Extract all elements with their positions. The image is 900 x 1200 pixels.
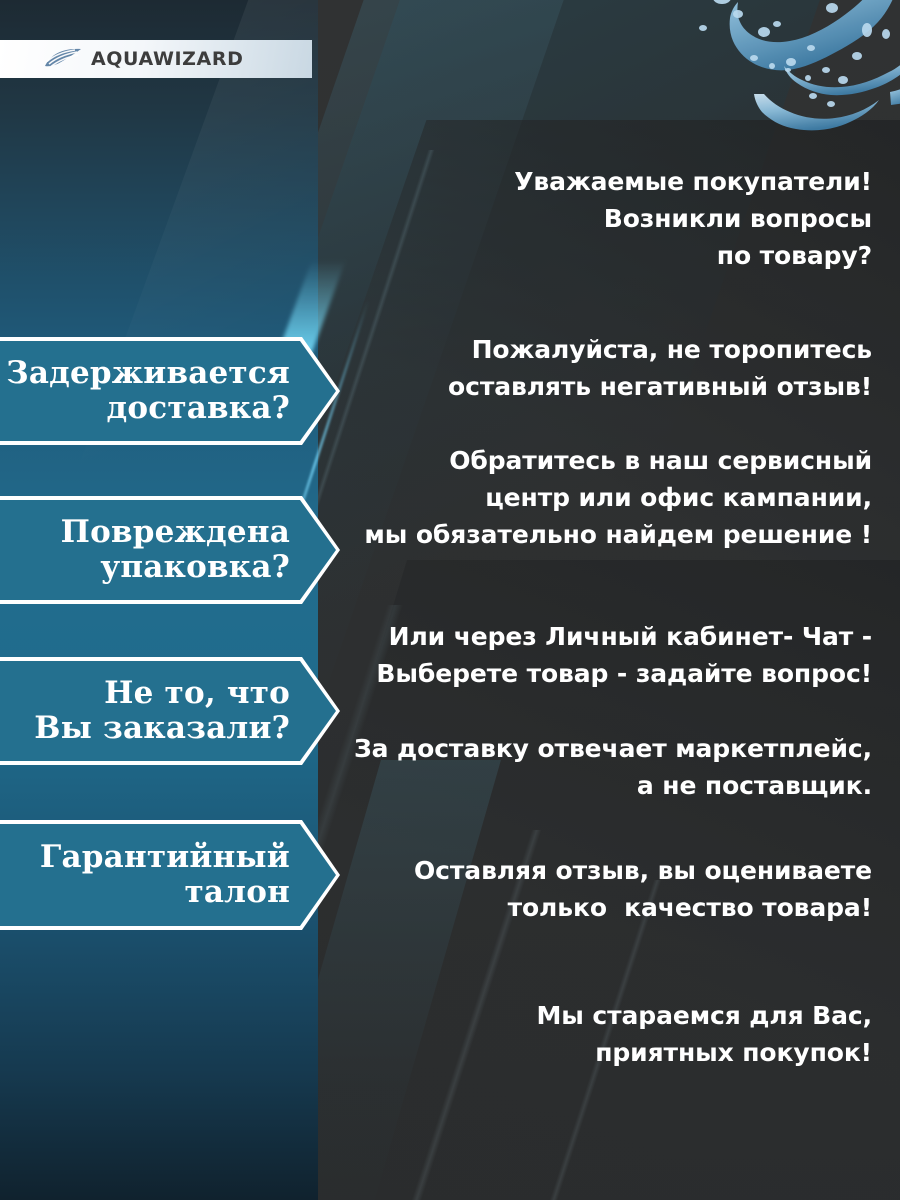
banner-warranty-card[interactable]: Гарантийный талон bbox=[0, 824, 336, 926]
banner-2-line1: Повреждена bbox=[61, 515, 290, 550]
banner-1-line1: Задерживается bbox=[6, 356, 290, 391]
message-marketplace: За доставку отвечает маркетплейс, а не п… bbox=[330, 730, 872, 804]
message-no-negative: Пожалуйста, не торопитесь оставлять нега… bbox=[330, 331, 872, 405]
brand-logo-bar: AQUAWIZARD bbox=[0, 40, 312, 78]
banner-4-text: Гарантийный талон bbox=[40, 840, 290, 910]
banner-2-line2: упаковка? bbox=[61, 550, 290, 585]
wave-swoosh-icon bbox=[44, 48, 82, 70]
brand-name: AQUAWIZARD bbox=[91, 50, 243, 69]
banner-damaged-packaging[interactable]: Повреждена упаковка? bbox=[0, 500, 336, 600]
banner-3-line2: Вы заказали? bbox=[34, 711, 290, 746]
banner-1-text: Задерживается доставка? bbox=[6, 356, 290, 426]
banner-4-line1: Гарантийный bbox=[40, 840, 290, 875]
banner-wrong-item[interactable]: Не то, что Вы заказали? bbox=[0, 661, 336, 761]
message-greeting: Уважаемые покупатели! Возникли вопросы п… bbox=[330, 163, 872, 274]
banner-2-text: Повреждена упаковка? bbox=[61, 515, 290, 585]
banner-4-line2: талон bbox=[40, 875, 290, 910]
banner-3-text: Не то, что Вы заказали? bbox=[34, 676, 290, 746]
message-column: Уважаемые покупатели! Возникли вопросы п… bbox=[330, 0, 886, 1200]
promo-card: AQUAWIZARD Задерживается доставка? Повре… bbox=[0, 0, 900, 1200]
message-review-quality: Оставляя отзыв, вы оцениваете только кач… bbox=[330, 852, 872, 926]
message-personal-chat: Или через Личный кабинет- Чат - Выберете… bbox=[330, 618, 872, 692]
banner-delayed-delivery[interactable]: Задерживается доставка? bbox=[0, 341, 336, 441]
message-closing: Мы стараемся для Вас, приятных покупок! bbox=[330, 997, 872, 1071]
message-service-center: Обратитесь в наш сервисный центр или офи… bbox=[330, 442, 872, 553]
banner-1-line2: доставка? bbox=[6, 391, 290, 426]
banner-3-line1: Не то, что bbox=[34, 676, 290, 711]
